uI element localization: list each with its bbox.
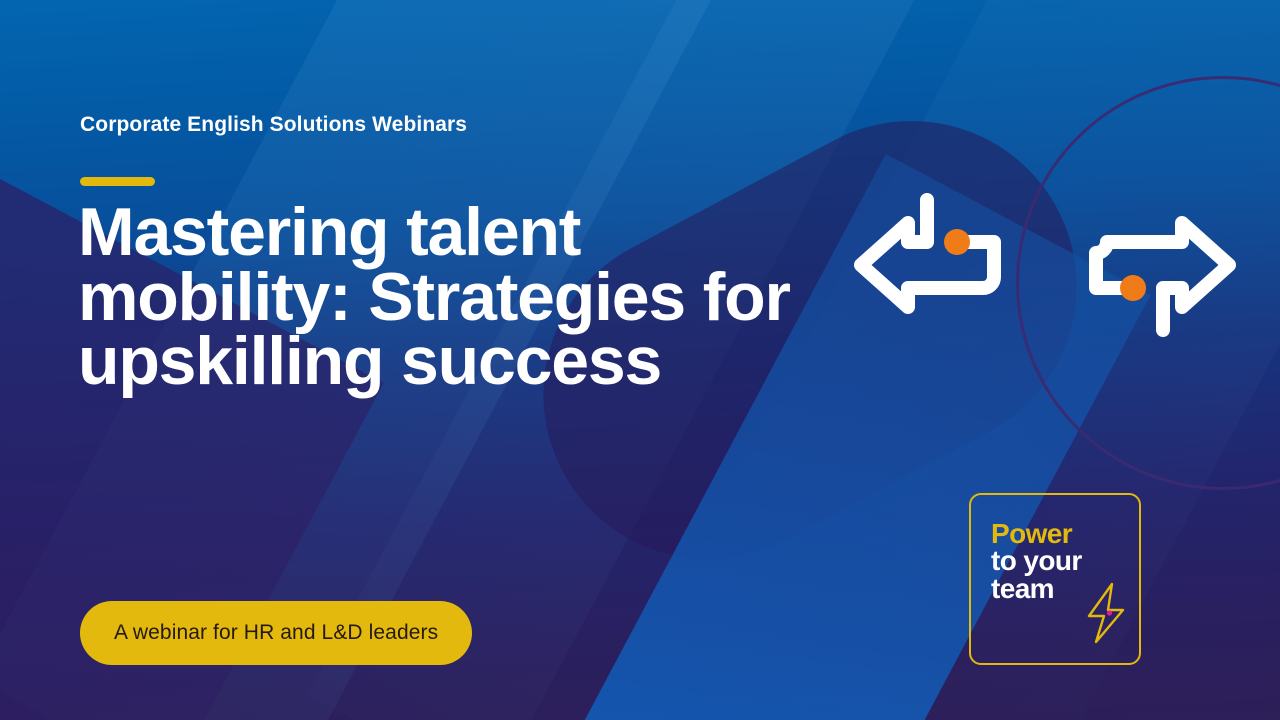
webinar-title-slide: Corporate English Solutions Webinars Mas… xyxy=(0,0,1280,720)
logo-line-power: Power xyxy=(991,520,1131,547)
page-title: Mastering talent mobility: Strategies fo… xyxy=(78,200,798,394)
logo-text-lockup: Power to your team xyxy=(991,520,1131,645)
series-eyebrow: Corporate English Solutions Webinars xyxy=(80,113,467,137)
arrows-svg xyxy=(845,185,1245,345)
arrow-right-icon xyxy=(1096,223,1229,330)
mobility-arrows-graphic xyxy=(845,185,1245,345)
lightning-bolt-icon xyxy=(1083,582,1129,644)
orange-dot-right xyxy=(1120,275,1146,301)
accent-rule xyxy=(80,177,155,186)
orange-dot-left xyxy=(944,229,970,255)
logo-line-to-your: to your xyxy=(991,547,1131,574)
arrow-left-icon xyxy=(861,200,994,307)
bolt-accent-dot xyxy=(1107,610,1112,615)
audience-badge[interactable]: A webinar for HR and L&D leaders xyxy=(80,601,472,665)
power-to-your-team-logo: Power to your team xyxy=(969,493,1141,665)
